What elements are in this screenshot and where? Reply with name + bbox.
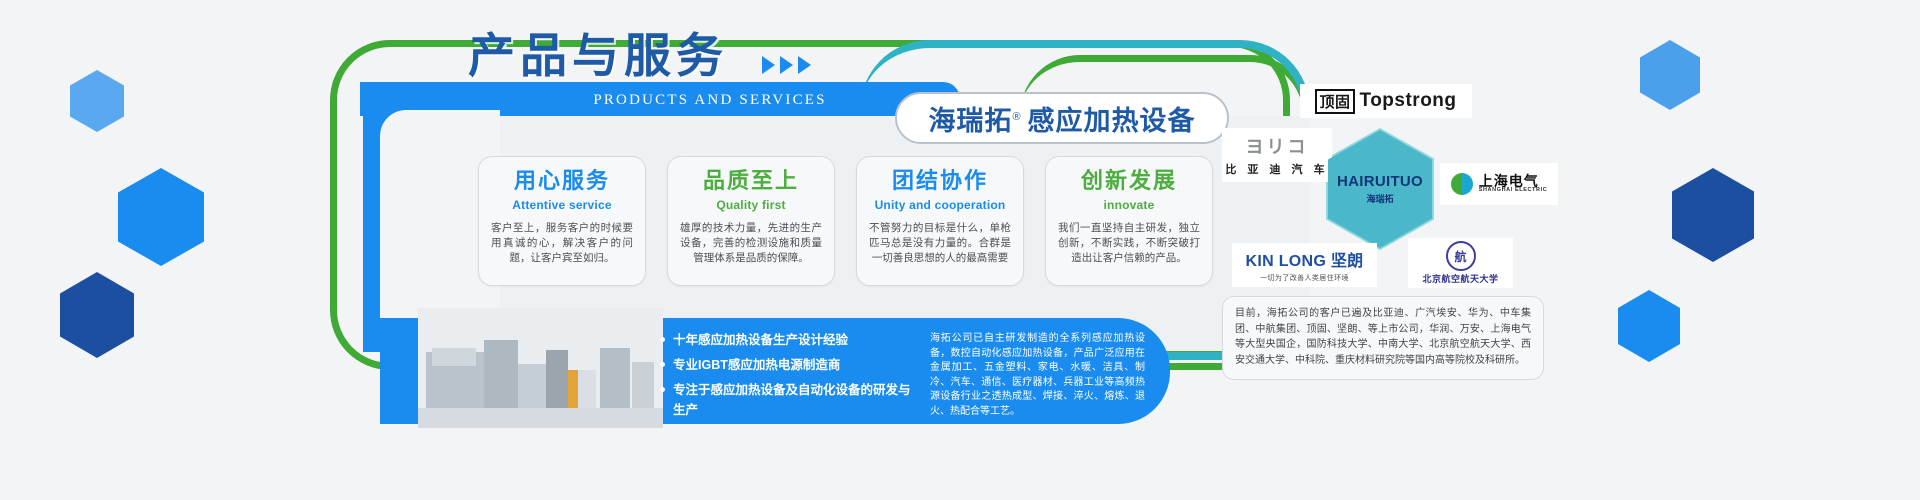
logo-kinlong: KIN LONG 坚朗 一切为了改善人类居住环境 [1232,243,1377,287]
list-item: 专业IGBT感应加热电源制造商 [660,355,920,375]
logo-byd-cn: 比 亚 迪 汽 车 [1225,161,1328,177]
page-title: 产品与服务 [468,32,728,79]
logo-shanghai-electric-en: SHANGHAI ELECTRIC [1479,188,1548,194]
list-item: 十年感应加热设备生产设计经验 [660,330,920,350]
value-card[interactable]: 创新发展 innovate 我们一直坚持自主研发，独立创新，不断实践，不断突破打… [1045,156,1213,286]
value-card[interactable]: 团结协作 Unity and cooperation 不管努力的目标是什么，单枪… [856,156,1024,286]
logo-hairuituo-en: HAIRUITUO [1337,173,1423,190]
card-subtitle: innovate [1056,198,1202,212]
logo-hairuituo: HAIRUITUO 海瑞拓 [1328,130,1432,248]
brand-product-line: 感应加热设备 [1028,99,1196,138]
hexagon-decoration [118,168,204,266]
card-title: 创新发展 [1056,169,1202,193]
logo-beihang: 航 北京航空航天大学 [1408,238,1513,288]
logo-topstrong-cn: 顶固 [1315,89,1354,114]
list-item: 专注于感应加热设备及自动化设备的研发与生产 [660,380,920,420]
card-subtitle: Attentive service [489,198,635,212]
brand-badge: 海瑞拓® 感应加热设备 [895,92,1229,144]
logo-kinlong-name: KIN LONG 坚朗 [1246,247,1364,271]
beihang-seal-icon: 航 [1446,241,1476,271]
registered-icon: ® [1012,111,1021,123]
card-subtitle: Unity and cooperation [867,198,1013,212]
value-card[interactable]: 品质至上 Quality first 雄厚的技术力量，先进的生产设备，完善的检测… [667,156,835,286]
logo-hairuituo-cn: 海瑞拓 [1366,192,1393,205]
logo-topstrong-en: Topstrong [1360,90,1457,112]
logo-shanghai-electric: 上海电气 SHANGHAI ELECTRIC [1440,163,1558,205]
card-title: 团结协作 [867,169,1013,193]
logo-kinlong-slogan: 一切为了改善人类居住环境 [1260,273,1349,283]
card-body: 不管努力的目标是什么，单枪匹马总是没有力量的。合群是一切善良思想的人的最高需要 [869,221,1011,266]
machine-photo [418,308,663,428]
hexagon-decoration [70,70,124,132]
triple-chevron-right-icon [762,56,811,74]
company-description: 海拓公司已自主研发制造的全系列感应加热设备，数控自动化感应加热设备，产品广泛应用… [930,332,1145,419]
logo-beihang-cn: 北京航空航天大学 [1422,272,1498,285]
card-body: 我们一直坚持自主研发，独立创新，不断实践，不断突破打造出让客户信赖的产品。 [1058,221,1200,266]
hexagon-decoration [1672,168,1754,262]
hexagon-decoration [60,272,134,358]
card-title: 用心服务 [489,169,635,193]
value-card[interactable]: 用心服务 Attentive service 客户至上，服务客户的时候要用真诚的… [478,156,646,286]
card-subtitle: Quality first [678,198,824,212]
card-body: 客户至上，服务客户的时候要用真诚的心，解决客户的问题，让客户宾至如归。 [491,221,633,266]
value-card-list: 用心服务 Attentive service 客户至上，服务客户的时候要用真诚的… [478,156,1213,286]
brand-name: 海瑞拓® [928,99,1021,138]
poster-canvas: 产品与服务 PRODUCTS AND SERVICES 海瑞拓® 感应加热设备 … [0,0,1920,500]
logo-byd: ヨリコ 比 亚 迪 汽 车 [1222,128,1332,182]
card-title: 品质至上 [678,169,824,193]
shanghai-electric-mark-icon [1451,173,1473,195]
hexagon-decoration [1640,40,1700,110]
hexagon-decoration [1618,290,1680,362]
logo-topstrong: 顶固 Topstrong [1300,84,1472,118]
card-body: 雄厚的技术力量，先进的生产设备，完善的检测设施和质量管理体系是品质的保障。 [680,221,822,266]
highlight-list: 十年感应加热设备生产设计经验 专业IGBT感应加热电源制造商 专注于感应加热设备… [660,330,920,425]
logo-shanghai-electric-cn: 上海电气 [1479,174,1548,189]
customer-list-paragraph: 目前，海拓公司的客户已遍及比亚迪、广汽埃安、华为、中车集团、中航集团、顶固、坚朗… [1222,296,1544,380]
logo-byd-mark: ヨリコ [1246,133,1309,159]
page-subtitle: PRODUCTS AND SERVICES [470,88,950,112]
